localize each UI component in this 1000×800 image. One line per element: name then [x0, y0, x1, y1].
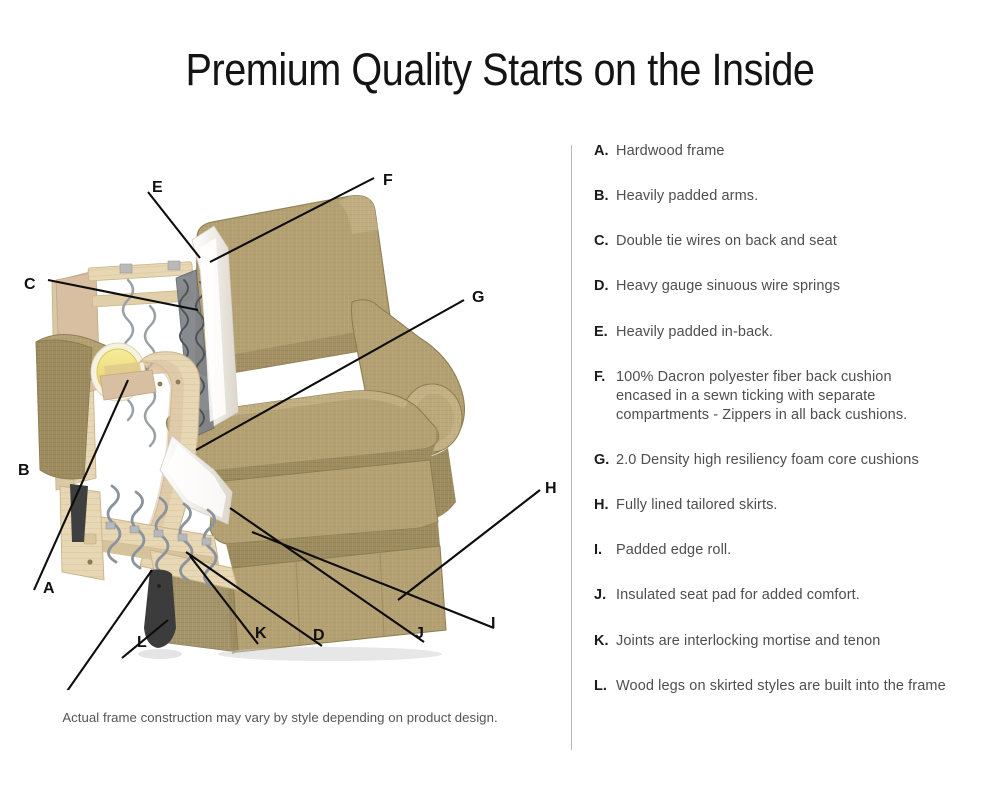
legend-text-l: Wood legs on skirted styles are built in… — [616, 677, 946, 696]
arrow-E — [148, 192, 200, 258]
callout-label-C: C — [24, 277, 36, 293]
legend-item-a: A. Hardwood frame — [594, 142, 986, 161]
legend-item-e: E. Heavily padded in-back. — [594, 323, 986, 342]
page-title: Premium Quality Starts on the Inside — [60, 44, 940, 96]
legend-item-j: J. Insulated seat pad for added comfort. — [594, 586, 986, 605]
legend-letter-h: H. — [594, 496, 616, 515]
legend-letter-l: L. — [594, 677, 616, 696]
callout-label-H: H — [545, 481, 557, 497]
legend-item-g: G. 2.0 Density high resiliency foam core… — [594, 451, 986, 470]
legend-text-f-line2: encased in a sewn ticking with separate — [616, 387, 907, 406]
callout-label-L: L — [137, 635, 147, 651]
legend-letter-a: A. — [594, 142, 616, 161]
legend-item-c: C. Double tie wires on back and seat — [594, 232, 986, 251]
legend-text-j: Insulated seat pad for added comfort. — [616, 586, 860, 605]
legend-letter-k: K. — [594, 632, 616, 651]
legend-text-e: Heavily padded in-back. — [616, 323, 773, 342]
legend-text-b: Heavily padded arms. — [616, 187, 758, 206]
arrow-A — [58, 570, 152, 690]
legend-item-l: L. Wood legs on skirted styles are built… — [594, 677, 986, 696]
legend-item-h: H. Fully lined tailored skirts. — [594, 496, 986, 515]
legend-text-f-line3: compartments - Zippers in all back cushi… — [616, 406, 907, 425]
callout-label-F: F — [383, 173, 393, 189]
legend-text-g: 2.0 Density high resiliency foam core cu… — [616, 451, 919, 470]
legend-text-d: Heavy gauge sinuous wire springs — [616, 277, 840, 296]
vertical-divider — [571, 145, 572, 750]
callout-label-D: D — [313, 628, 325, 644]
legend-text-f-line1: 100% Dacron polyester fiber back cushion — [616, 369, 892, 385]
callout-label-I: I — [491, 616, 495, 632]
callout-label-B: B — [18, 463, 30, 479]
legend-text-h: Fully lined tailored skirts. — [616, 496, 778, 515]
feature-legend-list: A. Hardwood frame B. Heavily padded arms… — [594, 142, 986, 722]
legend-letter-f: F. — [594, 368, 616, 387]
chair-cutaway-diagram — [0, 130, 570, 690]
legend-text-c: Double tie wires on back and seat — [616, 232, 837, 251]
legend-item-d: D. Heavy gauge sinuous wire springs — [594, 277, 986, 296]
legend-letter-c: C. — [594, 232, 616, 251]
legend-letter-j: J. — [594, 586, 616, 605]
legend-item-i: I. Padded edge roll. — [594, 541, 986, 560]
diagram-caption: Actual frame construction may vary by st… — [0, 710, 560, 725]
legend-letter-d: D. — [594, 277, 616, 296]
legend-letter-g: G. — [594, 451, 616, 470]
callout-label-J: J — [415, 626, 424, 642]
callout-label-G: G — [472, 290, 484, 306]
legend-item-k: K. Joints are interlocking mortise and t… — [594, 632, 986, 651]
legend-item-f: F. 100% Dacron polyester fiber back cush… — [594, 368, 986, 425]
legend-letter-e: E. — [594, 323, 616, 342]
legend-text-a: Hardwood frame — [616, 142, 725, 161]
legend-text-f: 100% Dacron polyester fiber back cushion… — [616, 368, 907, 425]
legend-letter-b: B. — [594, 187, 616, 206]
callout-label-K: K — [255, 626, 267, 642]
legend-letter-i: I. — [594, 541, 616, 560]
legend-text-i: Padded edge roll. — [616, 541, 731, 560]
legend-text-k: Joints are interlocking mortise and teno… — [616, 632, 880, 651]
callout-label-E: E — [152, 180, 163, 196]
legend-item-b: B. Heavily padded arms. — [594, 187, 986, 206]
callout-label-A: A — [43, 581, 55, 597]
